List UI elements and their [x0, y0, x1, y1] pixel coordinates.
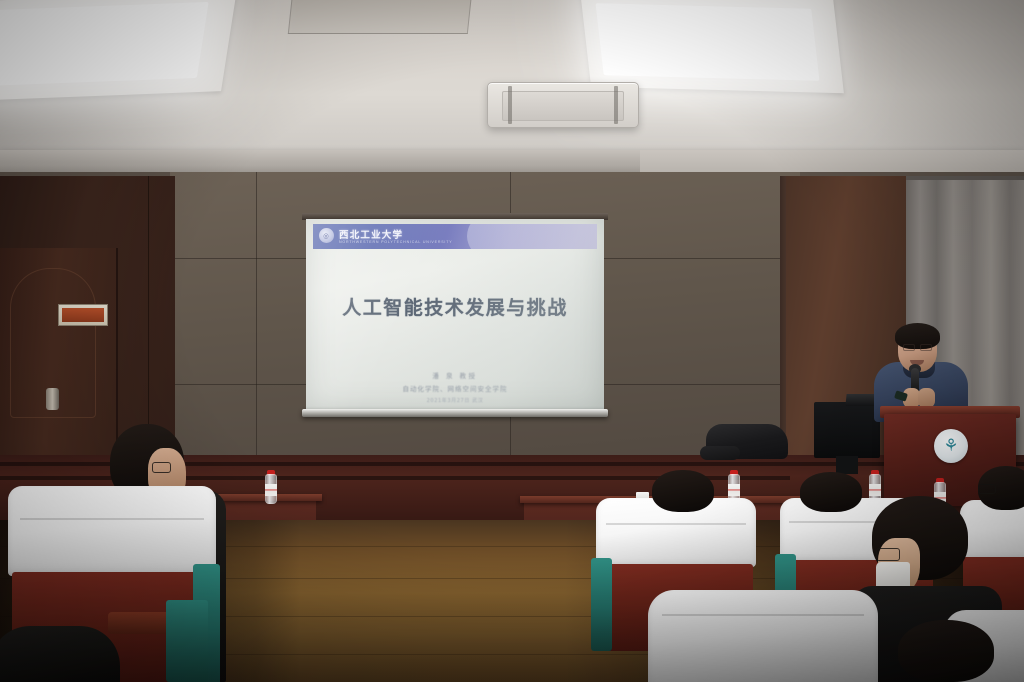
door-sign-inner — [62, 308, 104, 322]
speaker-eye-right — [920, 344, 932, 351]
chair-white-cover — [648, 590, 878, 682]
audience-glasses-icon — [978, 484, 996, 494]
speaker-eye-left — [903, 344, 915, 351]
audience-head — [652, 470, 714, 512]
bottle-label — [869, 484, 881, 496]
ac-vent-inner — [502, 91, 624, 121]
audience-glasses-icon — [152, 462, 171, 473]
ceiling — [0, 0, 1024, 172]
door-handle[interactable] — [46, 388, 59, 410]
audience-head — [800, 472, 862, 512]
podium-emblem-glyph: ⚘ — [934, 429, 968, 463]
bottle-label — [265, 484, 277, 496]
ceiling-access-tile — [288, 0, 472, 34]
black-bag-strap — [700, 446, 740, 460]
university-logo-icon: ◎ — [319, 228, 334, 243]
audience-head — [898, 620, 994, 682]
audience-glasses-icon — [876, 548, 900, 561]
screen-surface: ◎ 西北工业大学 NORTHWESTERN POLYTECHNICAL UNIV… — [306, 219, 604, 411]
speaker-hair — [895, 323, 940, 349]
chair-side-panel — [166, 600, 208, 682]
audience-partial — [0, 626, 120, 682]
chair-cover-fold — [606, 523, 747, 525]
chair-cover-fold — [662, 614, 864, 616]
lecture-hall-scene: ◎ 西北工业大学 NORTHWESTERN POLYTECHNICAL UNIV… — [0, 0, 1024, 682]
stage-monitor — [814, 402, 880, 458]
ac-vent-slat — [508, 86, 512, 124]
slide-banner: ◎ 西北工业大学 NORTHWESTERN POLYTECHNICAL UNIV… — [313, 224, 597, 249]
banner-swoosh-decor — [467, 224, 597, 249]
slide-affiliation: 自动化学院、网络空间安全学院 — [306, 383, 604, 393]
slide-date-place: 2021年3月27日 武汉 — [306, 397, 604, 404]
university-logo-glyph: ◎ — [323, 232, 328, 240]
podium-emblem: ⚘ — [934, 429, 968, 463]
screen-bottom-bar — [302, 409, 608, 417]
room-door[interactable] — [0, 248, 118, 476]
chair-armrest — [108, 612, 172, 634]
ceiling-light-right — [596, 3, 820, 81]
chair-side-panel — [591, 558, 612, 651]
stage-monitor-stand — [836, 456, 858, 474]
bottle-label — [728, 484, 740, 496]
chair-white-cover — [8, 486, 216, 576]
wall-panel-seam — [256, 172, 257, 472]
slide-presenter: 潘 泉 教授 — [306, 370, 604, 380]
university-name-cn: 西北工业大学 — [339, 227, 403, 241]
ceiling-light-left — [0, 2, 209, 86]
ac-vent-icon — [487, 82, 639, 128]
speaker-hand-right — [918, 388, 935, 408]
slide-title: 人工智能技术发展与挑战 — [306, 293, 604, 320]
door-sign-plate — [58, 304, 108, 326]
projection-screen: ◎ 西北工业大学 NORTHWESTERN POLYTECHNICAL UNIV… — [302, 213, 608, 421]
university-name-en: NORTHWESTERN POLYTECHNICAL UNIVERSITY — [339, 240, 452, 244]
audience-chair[interactable] — [648, 590, 878, 682]
chair-cover-fold — [20, 518, 203, 520]
ac-vent-slat — [614, 86, 618, 124]
